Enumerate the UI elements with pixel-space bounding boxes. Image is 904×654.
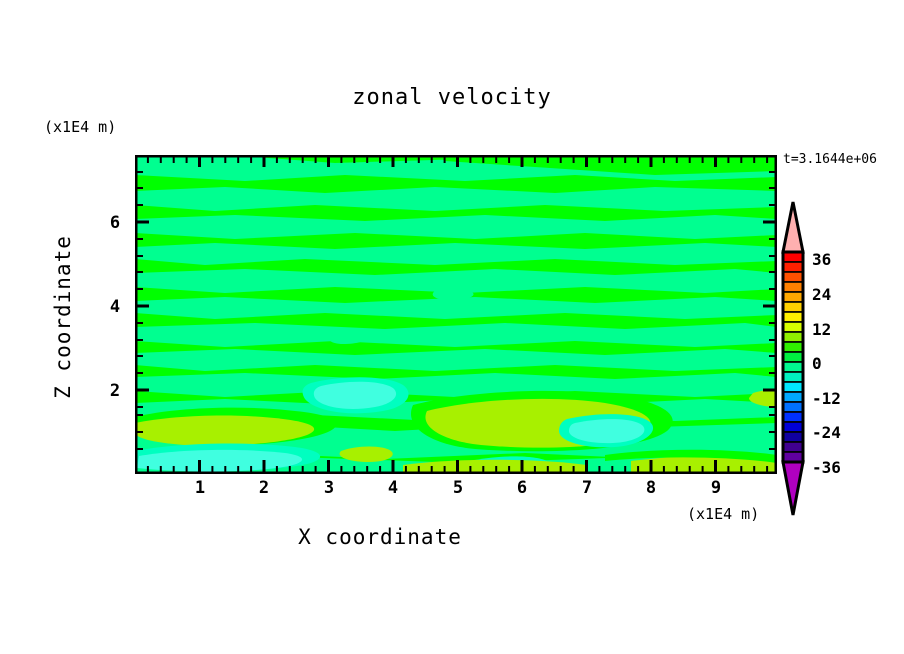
contour-plot-panel: [135, 155, 777, 474]
y-tick-label-4: 4: [104, 297, 126, 317]
y-tick-label-6: 6: [104, 213, 126, 233]
page-title: zonal velocity: [0, 85, 904, 110]
x-axis-title: X coordinate: [0, 525, 760, 549]
x-tick-label-3: 3: [318, 478, 340, 498]
colorbar-label-36: 36: [812, 250, 831, 269]
y-axis-unit-label: (x1E4 m): [44, 118, 116, 136]
colorbar[interactable]: [778, 200, 808, 520]
x-tick-label-9: 9: [705, 478, 727, 498]
x-tick-label-4: 4: [382, 478, 404, 498]
y-tick-label-2: 2: [104, 381, 126, 401]
colorbar-graphic[interactable]: [778, 200, 808, 520]
colorbar-label-n12: -12: [812, 389, 841, 408]
x-tick-label-5: 5: [447, 478, 469, 498]
x-tick-label-8: 8: [640, 478, 662, 498]
colorbar-label-n24: -24: [812, 423, 841, 442]
contour-field: [135, 155, 777, 474]
timestamp-label: t=3.1644e+06: [783, 152, 877, 167]
x-tick-label-2: 2: [253, 478, 275, 498]
x-tick-label-7: 7: [576, 478, 598, 498]
colorbar-label-12: 12: [812, 320, 831, 339]
colorbar-label-n36: -36: [812, 458, 841, 477]
x-axis-unit-label: (x1E4 m): [687, 505, 759, 523]
x-tick-label-1: 1: [189, 478, 211, 498]
colorbar-label-0: 0: [812, 354, 822, 373]
x-tick-label-6: 6: [511, 478, 533, 498]
y-axis-title: Z coordinate: [51, 192, 75, 442]
colorbar-label-24: 24: [812, 285, 831, 304]
